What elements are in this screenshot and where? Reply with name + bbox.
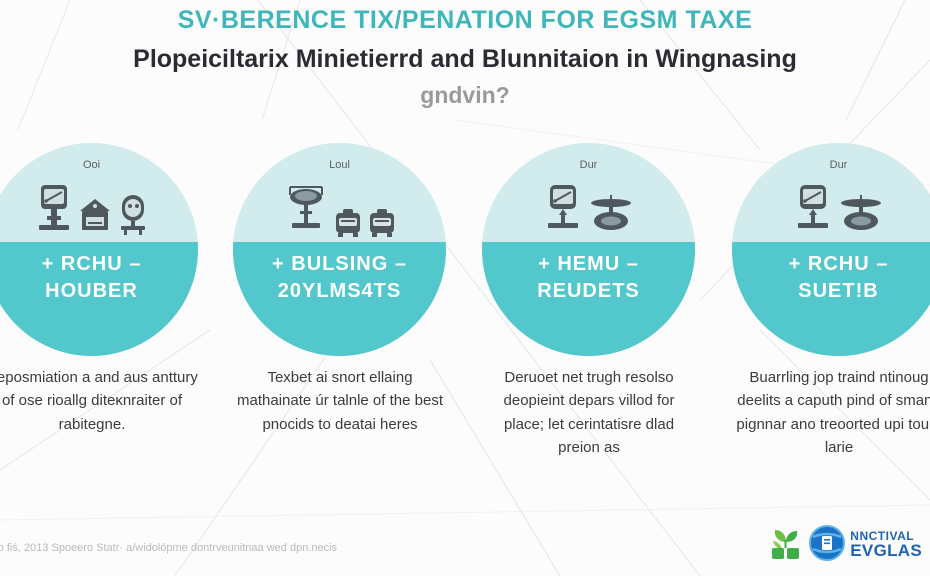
- circle-label: + HEMU – REUDETS: [482, 251, 695, 304]
- house-icon: [79, 197, 111, 237]
- circle-label-line1: + RCHU –: [789, 253, 889, 275]
- gauge-stand-icon: [794, 183, 832, 237]
- canister-icon: [368, 207, 396, 237]
- circle-label: + BULSING – 20YLMS4TS: [233, 251, 446, 304]
- logo-wordmark: NNCTIVAL EVGLAS: [850, 530, 922, 560]
- circle-label-line2: HOUBER: [0, 278, 198, 305]
- brand-logo: NNCTIVAL EVGLAS: [768, 522, 922, 568]
- circle-card-row: Ooi: [0, 143, 930, 363]
- circle-label-line1: + BULSING –: [272, 253, 407, 275]
- slide-header: SV·BERENCE TIX/PENATION FOR EGSM TAXE Pl…: [0, 0, 930, 109]
- circle-caption: Ooi: [0, 159, 198, 171]
- gauge-stand-icon: [35, 183, 73, 237]
- body-paragraph-row: Deposmiation a and aus anttury of ose ri…: [0, 366, 930, 496]
- plant-sprout-icon: [768, 526, 804, 565]
- disc-turbine-icon: [838, 191, 884, 237]
- gauge-stand-icon: [544, 183, 582, 237]
- circle-label-line1: + HEMU –: [538, 253, 639, 275]
- circle-label: + RCHU – HOUBER: [0, 251, 198, 304]
- circle-caption: Dur: [732, 159, 930, 171]
- slide-canvas: SV·BERENCE TIX/PENATION FOR EGSM TAXE Pl…: [0, 0, 930, 576]
- circle-label-line1: + RCHU –: [42, 253, 142, 275]
- circle-caption: Dur: [482, 159, 695, 171]
- circle-icon-group: [233, 175, 446, 237]
- footnote-text: ro fiś, 2013 Spoeero Statr· a/widolópme …: [0, 542, 337, 554]
- card-body-text: Texbet ai snort ellaing mathainate úr ta…: [234, 366, 446, 436]
- card-body-text: Deruoet net trugh resolso deopieint depa…: [483, 366, 695, 459]
- circle-graphic: Loul: [233, 143, 446, 356]
- card-body-text: Deposmiation a and aus anttury of ose ri…: [0, 366, 198, 436]
- canister-icon: [334, 207, 362, 237]
- circle-caption: Loul: [233, 159, 446, 171]
- circle-graphic: Ooi: [0, 143, 198, 356]
- circle-label: + RCHU – SUET!B: [732, 251, 930, 304]
- page-title: Plopeiciltarix Minietierrd and Blunnitai…: [0, 45, 930, 74]
- globe-badge-icon: [809, 525, 845, 566]
- umbrella-stand-icon: [284, 181, 328, 237]
- slide-subtitle: gndvin?: [0, 82, 930, 109]
- circle-card[interactable]: Dur: [732, 143, 930, 356]
- disc-turbine-icon: [588, 191, 634, 237]
- slide-kicker: SV·BERENCE TIX/PENATION FOR EGSM TAXE: [0, 6, 930, 35]
- circle-graphic: Dur: [482, 143, 695, 356]
- circle-icon-group: [732, 175, 930, 237]
- logo-line2: EVGLAS: [850, 542, 922, 559]
- circle-card[interactable]: Ooi: [0, 143, 198, 356]
- circle-graphic: Dur: [732, 143, 930, 356]
- circle-icon-group: [482, 175, 695, 237]
- dome-base-icon: [117, 193, 149, 237]
- circle-label-line2: 20YLMS4TS: [233, 278, 446, 305]
- circle-label-line2: REUDETS: [482, 278, 695, 305]
- card-body-text: Buarrling jop traind ntinoug deelits a c…: [733, 366, 930, 459]
- circle-card[interactable]: Loul: [233, 143, 446, 356]
- circle-label-line2: SUET!B: [732, 278, 930, 305]
- circle-card[interactable]: Dur: [482, 143, 695, 356]
- circle-icon-group: [0, 175, 198, 237]
